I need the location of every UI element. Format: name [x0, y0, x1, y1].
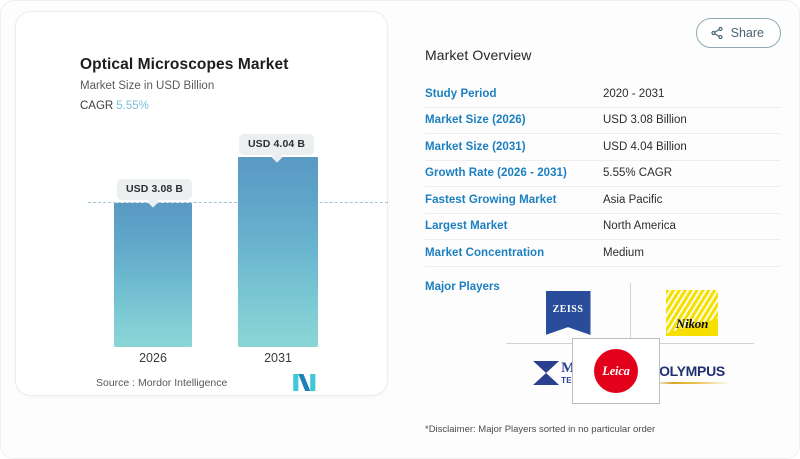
overview-title: Market Overview — [425, 47, 781, 63]
table-row: Study Period 2020 - 2031 — [425, 81, 781, 108]
market-snapshot-page: Optical Microscopes Market Market Size i… — [0, 0, 800, 459]
row-key: Largest Market — [425, 220, 603, 232]
row-key: Market Concentration — [425, 247, 603, 259]
row-key: Study Period — [425, 88, 603, 100]
table-row: Market Concentration Medium — [425, 240, 781, 267]
source-text: Source : Mordor Intelligence — [96, 377, 227, 389]
player-cell-zeiss: ZEISS — [506, 283, 630, 343]
table-row: Largest Market North America — [425, 214, 781, 241]
share-button[interactable]: Share — [696, 18, 781, 48]
row-key: Fastest Growing Market — [425, 194, 603, 206]
leica-logo-text: Leica — [602, 364, 629, 379]
bar-value-label-2031: USD 4.04 B — [239, 134, 314, 155]
bar-2026 — [114, 203, 192, 347]
olympus-logo-text: OLYMPUS — [653, 363, 731, 379]
bar-value-label-2026: USD 3.08 B — [117, 179, 192, 200]
x-axis-label-2031: 2031 — [233, 351, 323, 365]
x-axis-label-2026: 2026 — [108, 351, 198, 365]
nikon-logo: Nikon — [666, 290, 718, 336]
row-value: USD 4.04 Billion — [603, 141, 687, 153]
market-overview-panel: Market Overview Study Period 2020 - 2031… — [425, 47, 781, 293]
mordor-intelligence-logo — [293, 374, 319, 391]
meiji-bowtie-icon — [533, 361, 559, 385]
row-value: 5.55% CAGR — [603, 167, 672, 179]
zeiss-logo-text: ZEISS — [553, 304, 584, 315]
share-button-label: Share — [731, 26, 764, 40]
row-value: Medium — [603, 247, 644, 259]
chart-card: Optical Microscopes Market Market Size i… — [15, 11, 388, 396]
row-value: USD 3.08 Billion — [603, 114, 687, 126]
zeiss-logo: ZEISS — [546, 291, 591, 335]
table-row: Fastest Growing Market Asia Pacific — [425, 187, 781, 214]
table-row: Market Size (2031) USD 4.04 Billion — [425, 134, 781, 161]
row-key: Market Size (2031) — [425, 141, 603, 153]
player-cell-nikon: Nikon — [630, 283, 754, 343]
share-icon — [710, 26, 724, 40]
disclaimer-text: *Disclaimer: Major Players sorted in no … — [425, 424, 655, 435]
nikon-logo-text: Nikon — [666, 316, 718, 332]
bar-2031 — [238, 157, 318, 347]
table-row: Market Size (2026) USD 3.08 Billion — [425, 108, 781, 135]
leica-logo: Leica — [594, 349, 638, 393]
row-key: Market Size (2026) — [425, 114, 603, 126]
player-cell-leica: Leica — [572, 338, 660, 404]
row-key: Growth Rate (2026 - 2031) — [425, 167, 603, 179]
olympus-logo: OLYMPUS — [653, 363, 731, 384]
row-value: North America — [603, 220, 676, 232]
bar-chart-plot: USD 3.08 B USD 4.04 B 2026 2031 — [16, 12, 389, 397]
row-value: 2020 - 2031 — [603, 88, 664, 100]
olympus-underline — [653, 382, 731, 384]
row-value: Asia Pacific — [603, 194, 662, 206]
table-row: Growth Rate (2026 - 2031) 5.55% CAGR — [425, 161, 781, 188]
